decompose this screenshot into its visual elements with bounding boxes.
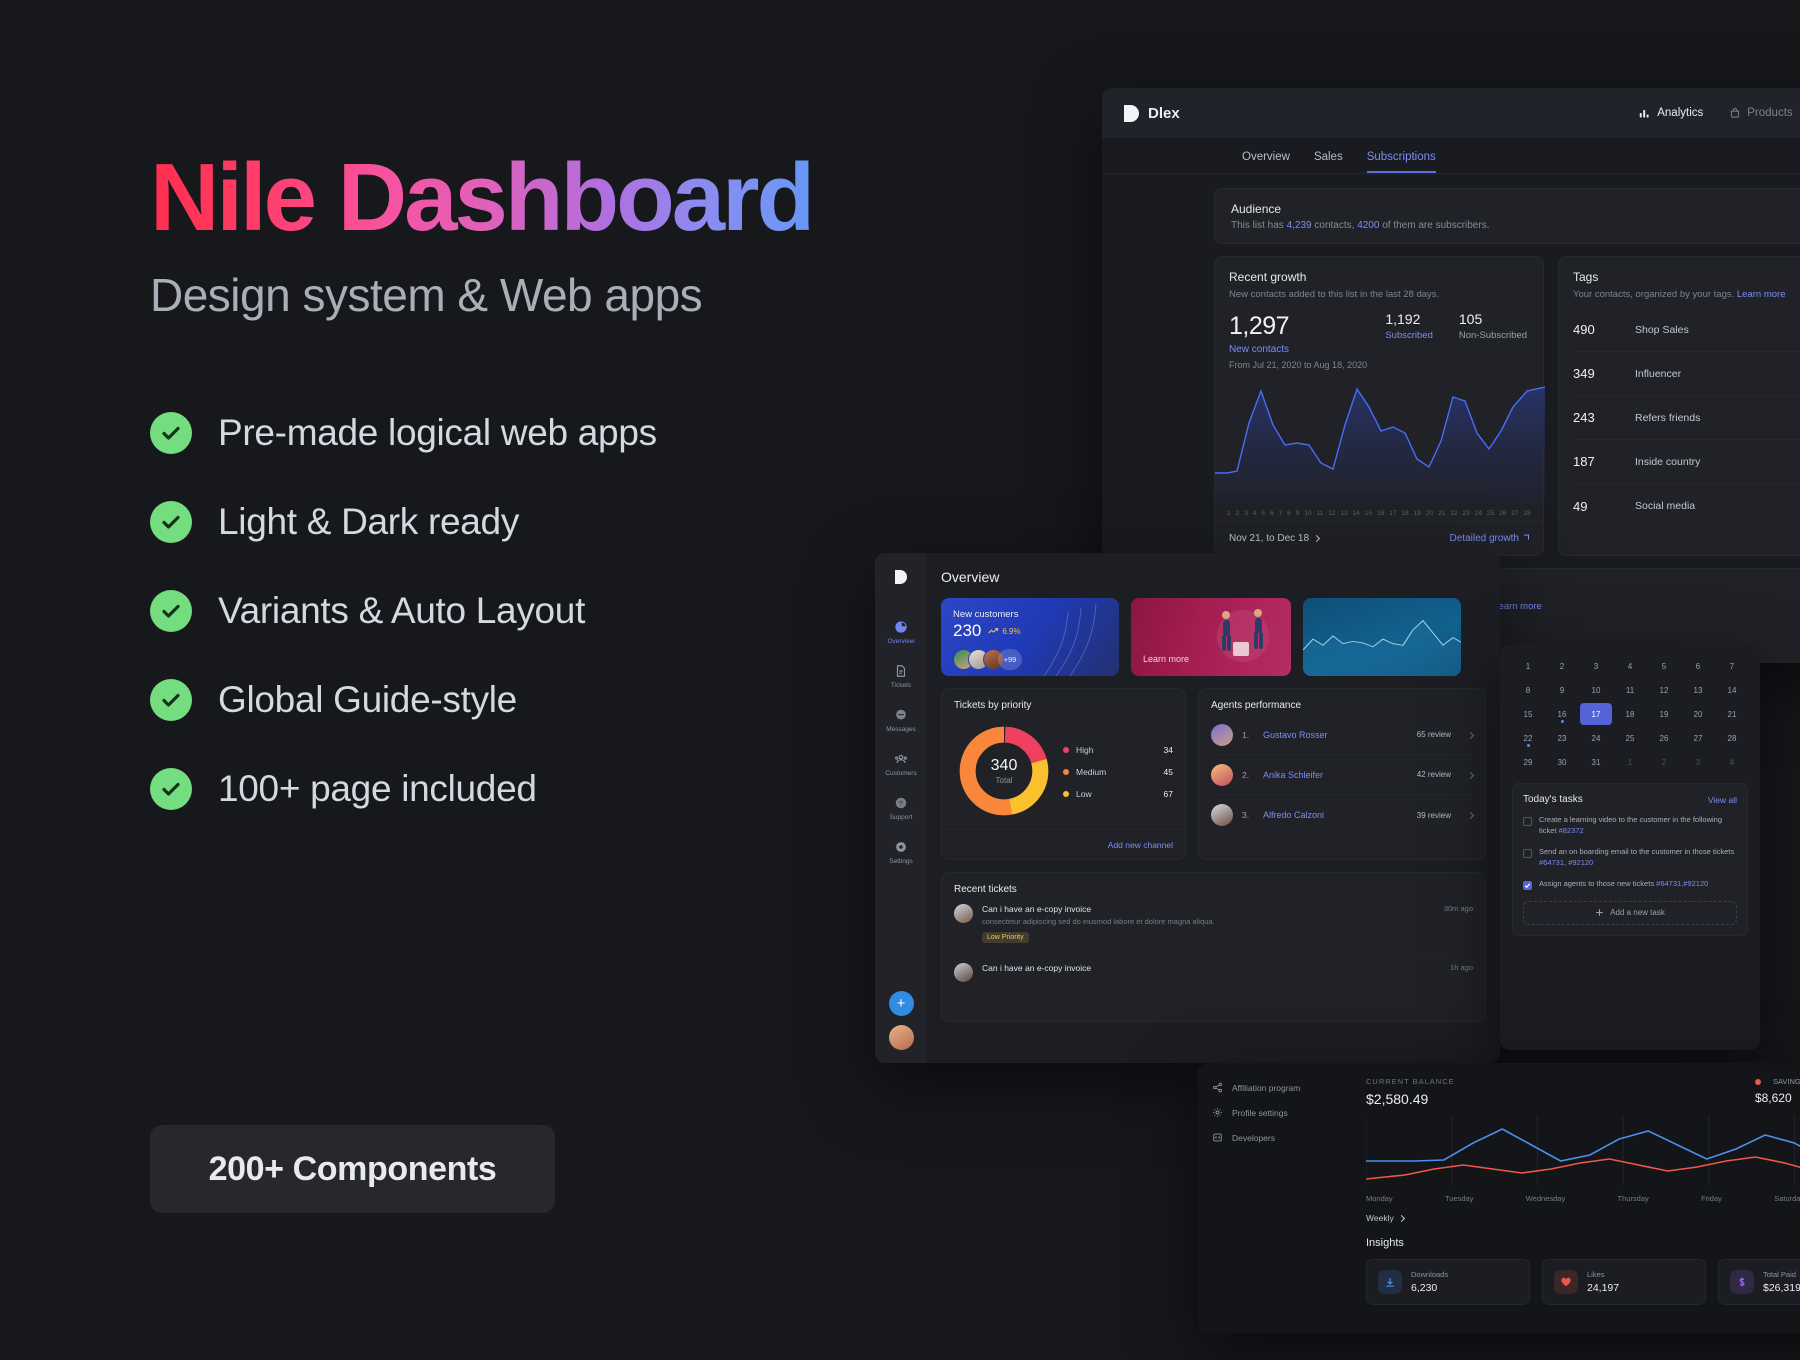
calendar-day[interactable]: 9	[1546, 679, 1578, 701]
legend-value: 67	[1164, 789, 1173, 799]
axis-tick: 24	[1475, 510, 1482, 517]
axis-tick: 20	[1426, 510, 1433, 517]
avatar	[1211, 764, 1233, 786]
insight-value: 6,230	[1411, 1282, 1448, 1294]
tag-label: Social media	[1635, 500, 1695, 512]
recent-tickets-card: Recent tickets Can i have an e-copy invo…	[941, 872, 1486, 1022]
audience-subscribers: 4200	[1357, 220, 1379, 231]
check-circle-icon	[150, 501, 192, 543]
sidebar-item-label: Tickets	[891, 682, 911, 689]
axis-tick: 14	[1353, 510, 1360, 517]
kpi-subscribed: 1,192 Subscribed	[1385, 311, 1433, 341]
tag-label: Influencer	[1635, 368, 1681, 380]
agent-reviews: 42 review	[1417, 770, 1451, 779]
chevron-down-icon	[1314, 533, 1319, 544]
dollar-icon	[1730, 1270, 1754, 1294]
axis-tick: 22	[1450, 510, 1457, 517]
tag-count: 349	[1573, 366, 1635, 381]
chevron-down-icon	[1399, 1213, 1404, 1223]
legend-label: SAVINGS	[1773, 1077, 1800, 1086]
list-item: Pre-made logical web apps	[150, 412, 1030, 454]
code-icon	[1212, 1132, 1223, 1143]
kpi-label: Non-Subscribed	[1459, 330, 1527, 341]
calendar-day[interactable]: 16	[1546, 703, 1578, 725]
legend-value: 34	[1164, 745, 1173, 755]
calendar-day[interactable]: 23	[1546, 727, 1578, 749]
tab-sales[interactable]: Sales	[1314, 151, 1343, 173]
avatar-overflow-count: +99	[998, 649, 1022, 670]
balance-content: CURRENT BALANCE $2,580.49 SAVINGS $8,620…	[1350, 1063, 1800, 1333]
agent-rank: 1.	[1242, 730, 1254, 740]
tag-count: 490	[1573, 322, 1635, 337]
insight-value: $26,319,48	[1763, 1282, 1800, 1294]
sidebar-item-label: Customers	[885, 770, 916, 777]
audience-desc-mid: contacts,	[1312, 220, 1358, 231]
check-circle-icon	[150, 590, 192, 632]
sidebar-item-tickets[interactable]: Tickets	[875, 654, 927, 698]
table-row[interactable]: 349Influencer	[1573, 352, 1800, 396]
agents-performance-card: Agents performance 1. Gustavo Rosser 65 …	[1198, 688, 1486, 860]
tag-count: 49	[1573, 499, 1635, 514]
axis-tick: Wednesday	[1526, 1194, 1565, 1203]
balance-legend: SAVINGS $8,620 REVENUE $8,	[1755, 1077, 1800, 1105]
analytics-tabs: Overview Sales Subscriptions	[1102, 138, 1800, 174]
axis-tick: 8	[1287, 510, 1291, 517]
agents-list: 1. Gustavo Rosser 65 review 2. Anika Sch…	[1211, 715, 1473, 835]
axis-tick: 13	[1340, 510, 1347, 517]
trend-up-icon: 6.9%	[988, 627, 1020, 636]
agent-rank: 2.	[1242, 770, 1254, 780]
tasks-header: Today's tasks View all	[1523, 794, 1737, 805]
status-badge: Low Priority	[982, 932, 1029, 943]
recent-growth-title: Recent growth	[1229, 270, 1529, 284]
overview-row-2: Tickets by priority 340 Total	[941, 688, 1486, 860]
insights-list: Downloads6,230 Likes24,197 Total Paid$26…	[1366, 1259, 1800, 1305]
insight-likes[interactable]: Likes24,197	[1542, 1259, 1706, 1305]
axis-tick: Thursday	[1618, 1194, 1649, 1203]
top-nav: Analytics Products Customers Campaigns S…	[1639, 107, 1800, 119]
share-icon	[1212, 1082, 1223, 1093]
list-item[interactable]: Can i have an e-copy invoice1h ago	[954, 954, 1473, 991]
calendar-day[interactable]: 27	[1682, 727, 1714, 749]
chart-x-axis: MondayTuesdayWednesdayThursdayFridaySatu…	[1366, 1194, 1800, 1203]
overview-window: Overview Tickets Messages Customers ? Su…	[875, 553, 1500, 1063]
insights-title: Insights	[1366, 1237, 1800, 1249]
legend-item-medium: Medium45	[1063, 761, 1173, 783]
agent-name: Gustavo Rosser	[1263, 730, 1328, 740]
task-text: Assign agents to those new tickets #6473…	[1539, 879, 1708, 890]
menu-item-profile-settings[interactable]: Profile settings	[1212, 1100, 1336, 1125]
calendar: 1234567891011121314151617181920212223242…	[1500, 645, 1760, 773]
dlex-logo-icon	[1124, 105, 1139, 122]
audience-title: Audience	[1231, 202, 1489, 216]
period-label: Weekly	[1366, 1213, 1394, 1223]
calendar-day[interactable]: 5	[1648, 655, 1680, 677]
agent-name: Alfredo Calzoni	[1263, 810, 1324, 820]
recent-growth-card: Recent growth New contacts added to this…	[1214, 256, 1544, 556]
calendar-day[interactable]: 24	[1580, 727, 1612, 749]
add-new-channel-link[interactable]: Add new channel	[1108, 840, 1173, 850]
axis-tick: Monday	[1366, 1194, 1393, 1203]
task-text-main: Send an on boarding email to the custome…	[1539, 847, 1734, 856]
menu-label: Profile settings	[1232, 1108, 1288, 1118]
page-title: Nile Dashboard	[150, 150, 1030, 246]
audience-desc-post: of them are subscribers.	[1379, 220, 1489, 231]
task-item[interactable]: Send an on boarding email to the custome…	[1523, 847, 1737, 869]
tags-subtitle: Your contacts, organized by your tags. L…	[1573, 289, 1800, 300]
gear-icon	[894, 839, 909, 854]
agent-name: Anika Schleifer	[1263, 770, 1323, 780]
check-circle-icon	[150, 679, 192, 721]
task-checkbox[interactable]	[1523, 817, 1532, 826]
growth-area-chart	[1215, 363, 1545, 503]
axis-tick: 9	[1296, 510, 1300, 517]
promo-subtitle: Design system & Web apps	[150, 268, 1030, 322]
sidebar: Overview Tickets Messages Customers ? Su…	[875, 553, 927, 1063]
tab-subscriptions[interactable]: Subscriptions	[1367, 151, 1436, 173]
bar-chart-icon	[1639, 107, 1651, 119]
components-badge: 200+ Components	[150, 1125, 555, 1213]
period-selector[interactable]: Weekly	[1366, 1213, 1800, 1223]
ticket-title: Can i have an e-copy invoice	[982, 963, 1091, 973]
title-part-1: Nile	[150, 144, 338, 251]
task-ticket-refs: #64731,#92120	[1656, 879, 1708, 888]
trend-sparkline	[1303, 616, 1461, 676]
kpi-value: 105	[1459, 311, 1527, 327]
calendar-day[interactable]: 15	[1512, 703, 1544, 725]
balance-label: CURRENT BALANCE	[1366, 1077, 1455, 1086]
axis-tick: 18	[1401, 510, 1408, 517]
growth-x-axis: 1234567891011121314151617181920212223242…	[1227, 510, 1531, 517]
axis-tick: 2	[1236, 510, 1240, 517]
page-title: Overview	[941, 569, 1486, 585]
legend-color-dot	[1755, 1079, 1761, 1085]
new-customers-value: 230	[953, 621, 981, 641]
calendar-day[interactable]: 28	[1716, 727, 1748, 749]
chevron-right-icon	[1521, 531, 1532, 542]
calendar-day[interactable]: 4	[1614, 655, 1646, 677]
axis-tick: 10	[1304, 510, 1311, 517]
insight-label: Downloads	[1411, 1270, 1448, 1279]
nav-item-analytics[interactable]: Analytics	[1639, 107, 1703, 119]
axis-tick: 25	[1487, 510, 1494, 517]
demographics-learn-more-link[interactable]: Learn more	[1493, 601, 1542, 612]
calendar-day[interactable]: 17	[1580, 703, 1612, 725]
promo-cta[interactable]: Learn more	[1143, 654, 1189, 664]
sidebar-item-settings[interactable]: Settings	[875, 830, 927, 874]
axis-tick: Saturday	[1774, 1194, 1800, 1203]
calendar-day[interactable]: 8	[1512, 679, 1544, 701]
ticket-body: consectetur adipiscing sed do eiusmod la…	[982, 917, 1473, 926]
donut-legend: High34 Medium45 Low67	[1063, 739, 1173, 805]
table-row[interactable]: 243Refers friends	[1573, 396, 1800, 440]
growth-kpis: 1,192 Subscribed 105 Non-Subscribed	[1385, 311, 1527, 341]
calendar-day[interactable]: 3	[1580, 655, 1612, 677]
kpi-non-subscribed: 105 Non-Subscribed	[1459, 311, 1527, 341]
audience-desc: This list has 4,239 contacts, 4200 of th…	[1231, 220, 1489, 231]
title-part-2: Dashboard	[338, 144, 812, 251]
donut-total-value: 340	[991, 757, 1018, 775]
legend-item-low: Low67	[1063, 783, 1173, 805]
tags-card: Tags Your contacts, organized by your ta…	[1558, 256, 1800, 556]
axis-tick: 1	[1227, 510, 1231, 517]
check-circle-icon	[150, 768, 192, 810]
list-item[interactable]: 2. Anika Schleifer 42 review	[1211, 755, 1473, 795]
calendar-day[interactable]: 12	[1648, 679, 1680, 701]
insight-value: 24,197	[1587, 1282, 1619, 1294]
agent-reviews: 39 review	[1417, 811, 1451, 820]
audience-desc-pre: This list has	[1231, 220, 1287, 231]
calendar-day[interactable]: 19	[1648, 703, 1680, 725]
overview-main: Overview New customers 230 6.9%	[927, 553, 1500, 1063]
nav-label: Analytics	[1657, 107, 1703, 119]
detailed-growth-label: Detailed growth	[1450, 533, 1519, 544]
ticket-time: 30m ago	[1444, 904, 1473, 914]
recent-growth-value-label: New contacts	[1229, 344, 1529, 355]
pie-chart-icon	[894, 619, 909, 634]
balance-line-chart	[1366, 1115, 1800, 1185]
sidebar-item-messages[interactable]: Messages	[875, 698, 927, 742]
users-icon	[894, 751, 909, 766]
task-item[interactable]: Assign agents to those new tickets #6473…	[1523, 879, 1737, 890]
growth-footer: Nov 21, to Dec 18 Detailed growth	[1215, 521, 1543, 555]
calendar-day[interactable]: 18	[1614, 703, 1646, 725]
axis-tick: Tuesday	[1445, 1194, 1474, 1203]
task-checkbox[interactable]	[1523, 849, 1532, 858]
avatar	[954, 904, 973, 923]
table-row[interactable]: 187Inside country	[1573, 440, 1800, 484]
calendar-day[interactable]: 29	[1512, 751, 1544, 773]
avatar[interactable]	[889, 1025, 914, 1050]
calendar-day[interactable]: 14	[1716, 679, 1748, 701]
list-item: Light & Dark ready	[150, 501, 1030, 543]
axis-tick: 27	[1511, 510, 1518, 517]
chevron-right-icon[interactable]	[1468, 770, 1473, 780]
legend-item-savings: SAVINGS $8,620	[1755, 1077, 1800, 1105]
axis-tick: 23	[1463, 510, 1470, 517]
avatar	[1211, 724, 1233, 746]
legend-item-high: High34	[1063, 739, 1173, 761]
add-button[interactable]: +	[889, 991, 914, 1016]
list-item[interactable]: 3. Alfredo Calzoni 39 review	[1211, 795, 1473, 835]
sidebar-item-label: Messages	[886, 726, 916, 733]
sidebar-item-support[interactable]: ? Support	[875, 786, 927, 830]
nav-item-products[interactable]: Products	[1729, 107, 1792, 119]
sidebar-item-label: Support	[890, 814, 913, 821]
view-all-link[interactable]: View all	[1708, 795, 1737, 805]
calendar-day[interactable]: 13	[1682, 679, 1714, 701]
task-text: Send an on boarding email to the custome…	[1539, 847, 1737, 869]
list-item[interactable]: 1. Gustavo Rosser 65 review	[1211, 715, 1473, 755]
avatar	[1211, 804, 1233, 826]
legend-label: Low	[1076, 789, 1092, 799]
chevron-right-icon[interactable]	[1468, 730, 1473, 740]
axis-tick: 26	[1499, 510, 1506, 517]
audience-contacts: 4,239	[1287, 220, 1312, 231]
sidebar-item-overview[interactable]: Overview	[875, 610, 927, 654]
nav-label: Products	[1747, 107, 1792, 119]
calendar-day[interactable]: 3	[1682, 751, 1714, 773]
check-icon	[1524, 882, 1531, 889]
calendar-day[interactable]: 6	[1682, 655, 1714, 677]
help-icon: ?	[894, 795, 909, 810]
task-item[interactable]: Create a learning video to the customer …	[1523, 815, 1737, 837]
legend-label: Medium	[1076, 767, 1106, 777]
insight-label: Likes	[1587, 1270, 1619, 1279]
list-item[interactable]: Can i have an e-copy invoice30m ago cons…	[954, 895, 1473, 954]
tasks-title: Today's tasks	[1523, 794, 1583, 805]
svg-text:?: ?	[899, 800, 903, 807]
recent-tickets-title: Recent tickets	[954, 884, 1473, 895]
add-task-button[interactable]: Add a new task	[1523, 901, 1737, 925]
feature-label: Variants & Auto Layout	[218, 590, 585, 632]
document-icon	[894, 663, 909, 678]
tasks-window: 1234567891011121314151617181920212223242…	[1500, 645, 1760, 1050]
calendar-day-marker	[1561, 720, 1564, 723]
menu-item-developers[interactable]: Developers	[1212, 1125, 1336, 1150]
kpi-value: 1,192	[1385, 311, 1433, 327]
axis-tick: 7	[1279, 510, 1283, 517]
tab-overview[interactable]: Overview	[1242, 151, 1290, 173]
trend-card[interactable]	[1303, 598, 1461, 676]
calendar-day[interactable]: 11	[1614, 679, 1646, 701]
donut-chart: 340 Total	[956, 723, 1052, 824]
calendar-day[interactable]: 25	[1614, 727, 1646, 749]
donut-total-label: Total	[996, 776, 1013, 785]
calendar-day[interactable]: 2	[1546, 655, 1578, 677]
balance-window: Affiliation program Profile settings Dev…	[1198, 1063, 1800, 1333]
tags-title: Tags	[1573, 270, 1800, 284]
calendar-day[interactable]: 26	[1648, 727, 1680, 749]
ticket-title: Can i have an e-copy invoice	[982, 904, 1091, 914]
bag-icon	[1729, 107, 1741, 119]
calendar-day[interactable]: 7	[1716, 655, 1748, 677]
promo-card[interactable]: Learn more	[1131, 598, 1291, 676]
task-text-main: Assign agents to those new tickets	[1539, 879, 1656, 888]
check-circle-icon	[150, 412, 192, 454]
tickets-by-priority-card: Tickets by priority 340 Total	[941, 688, 1186, 860]
calendar-day[interactable]: 10	[1580, 679, 1612, 701]
tickets-priority-footer: Add new channel	[942, 829, 1185, 859]
new-customers-card[interactable]: New customers 230 6.9% +99	[941, 598, 1119, 676]
axis-tick: 5	[1261, 510, 1265, 517]
feature-label: Light & Dark ready	[218, 501, 519, 543]
axis-tick: 15	[1365, 510, 1372, 517]
tags-list: 490Shop Sales 349Influencer 243Refers fr…	[1573, 308, 1800, 528]
tag-label: Refers friends	[1635, 412, 1700, 424]
axis-tick: 28	[1524, 510, 1531, 517]
legend-color-dot	[1063, 769, 1069, 775]
task-text: Create a learning video to the customer …	[1539, 815, 1737, 837]
calendar-day[interactable]: 4	[1716, 751, 1748, 773]
feature-label: Pre-made logical web apps	[218, 412, 657, 454]
chevron-right-icon[interactable]	[1468, 810, 1473, 820]
brand-name: Dlex	[1148, 105, 1180, 122]
axis-tick: 11	[1317, 510, 1324, 517]
calendar-day[interactable]: 1	[1614, 751, 1646, 773]
calendar-day-marker	[1527, 744, 1530, 747]
calendar-day[interactable]: 21	[1716, 703, 1748, 725]
tags-subtitle-text: Your contacts, organized by your tags.	[1573, 289, 1734, 300]
insight-downloads[interactable]: Downloads6,230	[1366, 1259, 1530, 1305]
task-ticket-refs: #82372	[1559, 826, 1584, 835]
menu-item-affiliation-program[interactable]: Affiliation program	[1212, 1075, 1336, 1100]
kpi-cards: New customers 230 6.9% +99	[941, 598, 1486, 676]
axis-tick: 12	[1328, 510, 1335, 517]
balance-header: CURRENT BALANCE $2,580.49 SAVINGS $8,620…	[1366, 1077, 1800, 1107]
axis-tick: 21	[1438, 510, 1445, 517]
calendar-day[interactable]: 1	[1512, 655, 1544, 677]
tag-count: 187	[1573, 454, 1635, 469]
axis-tick: 6	[1270, 510, 1274, 517]
detailed-growth-link[interactable]: Detailed growth	[1450, 533, 1529, 544]
calendar-day[interactable]: 20	[1682, 703, 1714, 725]
balance-value: $2,580.49	[1366, 1091, 1455, 1107]
insight-label: Total Paid	[1763, 1270, 1800, 1279]
tags-learn-more-link[interactable]: Learn more	[1737, 289, 1786, 300]
legend-color-dot	[1063, 791, 1069, 797]
growth-date-selector[interactable]: Nov 21, to Dec 18	[1229, 533, 1319, 544]
legend-label: High	[1076, 745, 1093, 755]
sidebar-item-label: Settings	[889, 858, 913, 865]
dlex-logo-icon	[895, 570, 907, 584]
agents-performance-title: Agents performance	[1211, 700, 1473, 711]
axis-tick: 3	[1244, 510, 1248, 517]
todays-tasks-card: Today's tasks View all Create a learning…	[1512, 783, 1748, 936]
task-checkbox[interactable]	[1523, 881, 1532, 890]
gear-icon	[1212, 1107, 1223, 1118]
table-row[interactable]: 49Social media	[1573, 484, 1800, 528]
axis-tick: 17	[1389, 510, 1396, 517]
tag-label: Inside country	[1635, 456, 1700, 468]
insight-total-paid[interactable]: Total Paid$26,319,48	[1718, 1259, 1800, 1305]
balance-menu: Affiliation program Profile settings Dev…	[1198, 1063, 1350, 1333]
add-task-label: Add a new task	[1610, 908, 1665, 917]
calendar-day[interactable]: 30	[1546, 751, 1578, 773]
avatar	[954, 963, 973, 982]
download-icon	[1378, 1270, 1402, 1294]
calendar-day[interactable]: 31	[1580, 751, 1612, 773]
agent-rank: 3.	[1242, 810, 1254, 820]
sidebar-bottom: +	[889, 991, 914, 1063]
poster-canvas: Nile Dashboard Design system & Web apps …	[0, 0, 1800, 1360]
legend-value: $8,620	[1755, 1091, 1800, 1105]
task-ticket-refs: #64731, #92120	[1539, 858, 1593, 867]
sidebar-item-customers[interactable]: Customers	[875, 742, 927, 786]
feature-label: Global Guide-style	[218, 679, 517, 721]
axis-tick: 4	[1253, 510, 1257, 517]
axis-tick: 16	[1377, 510, 1384, 517]
new-customers-delta: 6.9%	[1002, 627, 1020, 636]
menu-label: Affiliation program	[1232, 1083, 1300, 1093]
ticket-time: 1h ago	[1450, 963, 1473, 973]
analytics-grid: Recent growth New contacts added to this…	[1214, 256, 1800, 556]
chat-icon	[894, 707, 909, 722]
kpi-label: Subscribed	[1385, 330, 1433, 341]
audience-card: Audience This list has 4,239 contacts, 4…	[1214, 188, 1800, 244]
calendar-day[interactable]: 22	[1512, 727, 1544, 749]
calendar-day[interactable]: 2	[1648, 751, 1680, 773]
axis-tick: 19	[1414, 510, 1421, 517]
table-row[interactable]: 490Shop Sales	[1573, 308, 1800, 352]
legend-color-dot	[1063, 747, 1069, 753]
plus-icon	[1595, 908, 1604, 917]
tickets-priority-title: Tickets by priority	[954, 700, 1173, 711]
calendar-grid: 1234567891011121314151617181920212223242…	[1512, 655, 1748, 773]
agent-reviews: 65 review	[1417, 730, 1451, 739]
illustration	[1197, 602, 1285, 672]
card-decoration	[1024, 598, 1119, 676]
